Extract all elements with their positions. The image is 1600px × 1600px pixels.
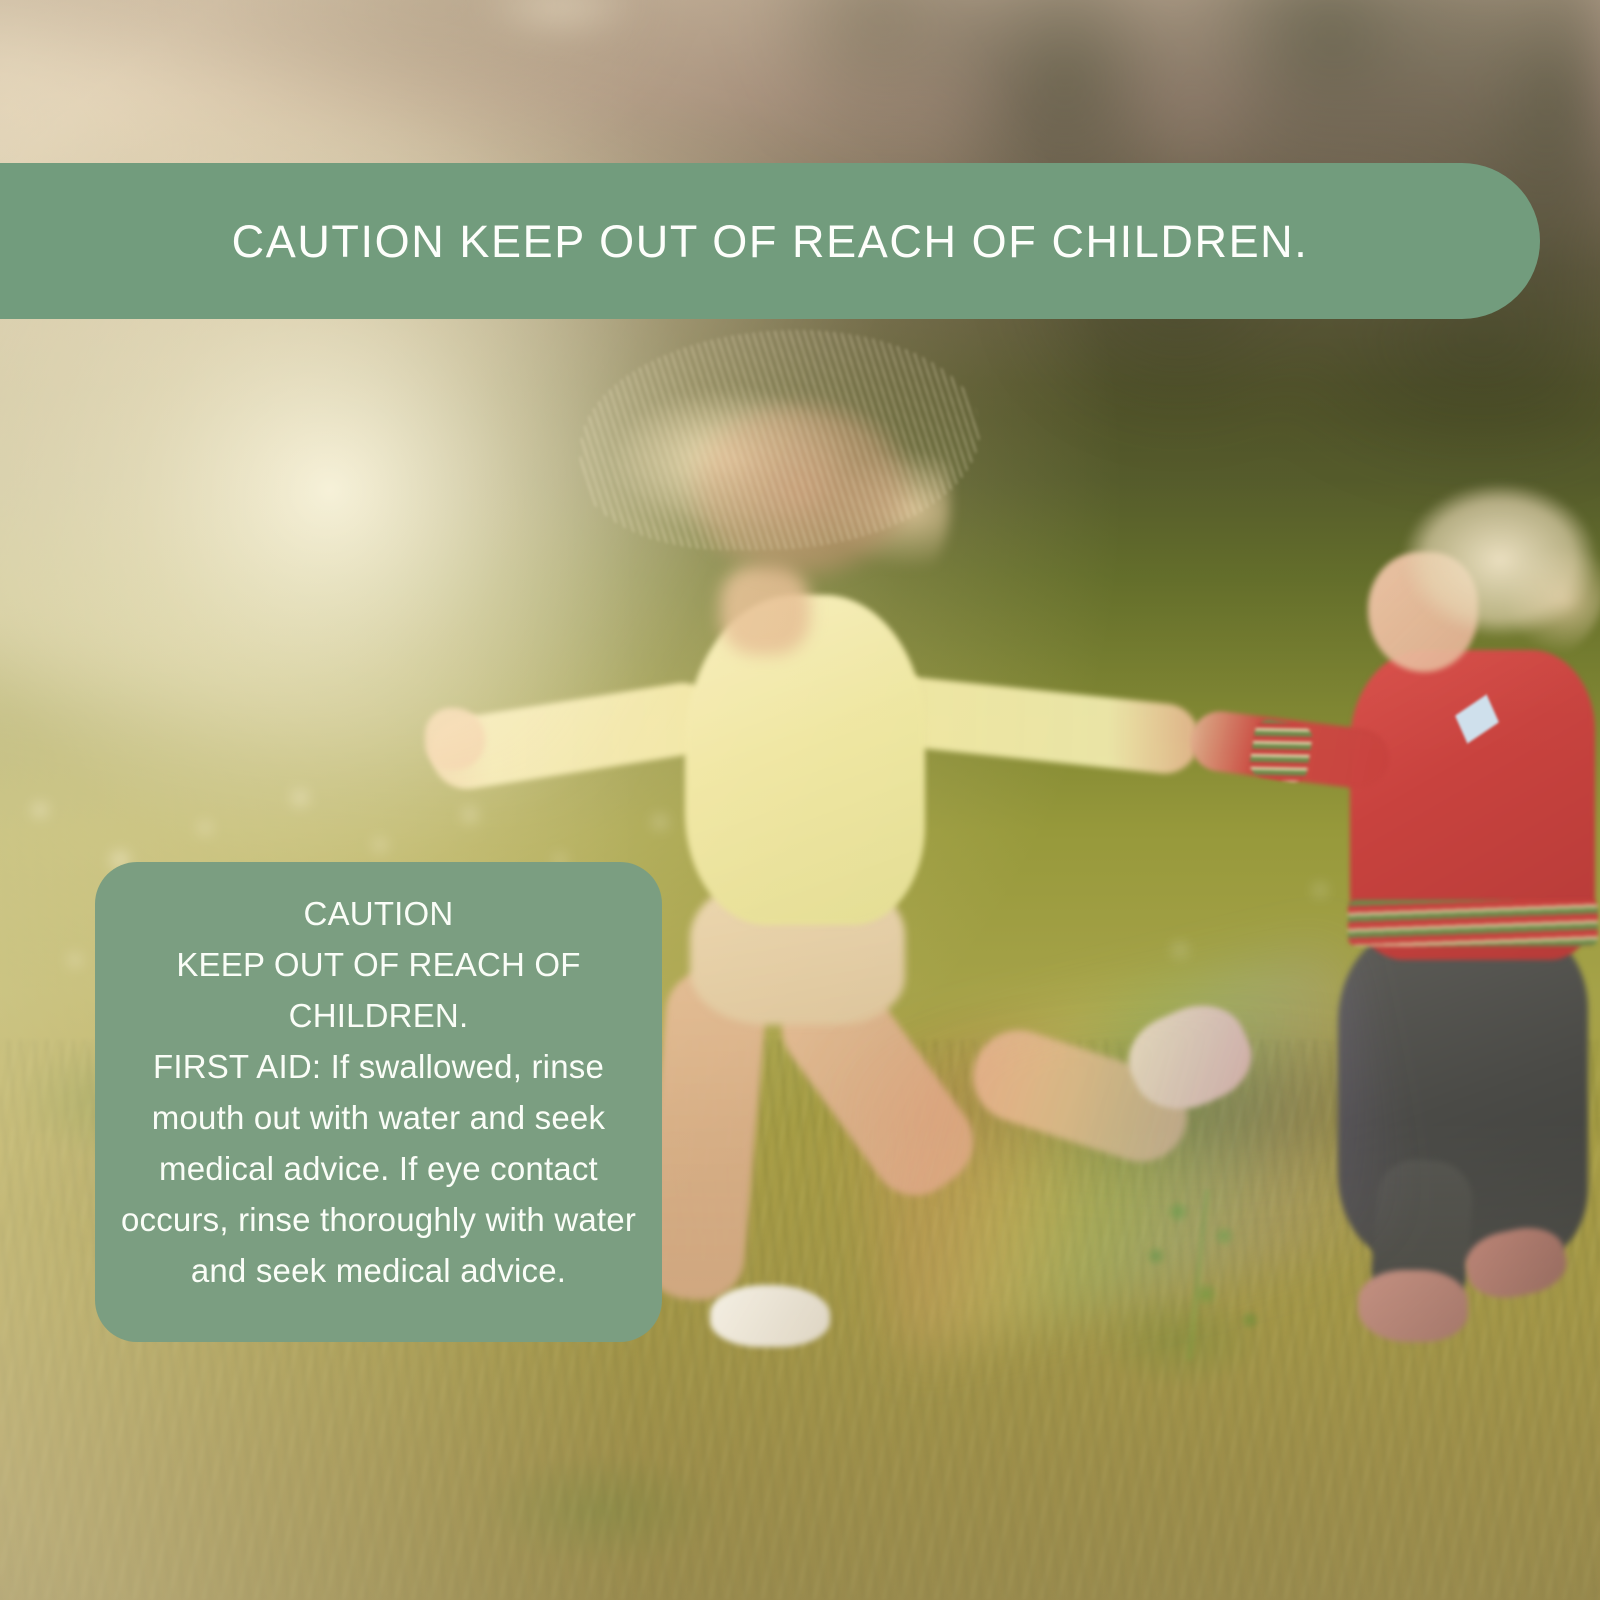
child-toddler-red-jacket <box>1270 470 1600 1360</box>
toddler-boot-front <box>1358 1270 1468 1342</box>
caution-banner: CAUTION KEEP OUT OF REACH OF CHILDREN. <box>0 163 1540 319</box>
info-card-heading: CAUTION KEEP OUT OF REACH OF CHILDREN. <box>117 888 640 1041</box>
toddler-striped-cuff <box>1248 718 1314 784</box>
poster-canvas: CAUTION KEEP OUT OF REACH OF CHILDREN. C… <box>0 0 1600 1600</box>
photo-clover-sprig <box>1120 1190 1280 1360</box>
girl-left-hand <box>425 708 485 770</box>
girl-yellow-top <box>685 595 925 925</box>
girl-left-shoe <box>710 1285 830 1347</box>
info-card-body: FIRST AID: If swallowed, rinse mouth out… <box>117 1041 640 1296</box>
toddler-jacket-hem-stripe <box>1348 900 1598 946</box>
caution-banner-title: CAUTION KEEP OUT OF REACH OF CHILDREN. <box>232 219 1309 264</box>
toddler-hair <box>1370 470 1600 670</box>
first-aid-info-card: CAUTION KEEP OUT OF REACH OF CHILDREN. F… <box>95 862 662 1342</box>
